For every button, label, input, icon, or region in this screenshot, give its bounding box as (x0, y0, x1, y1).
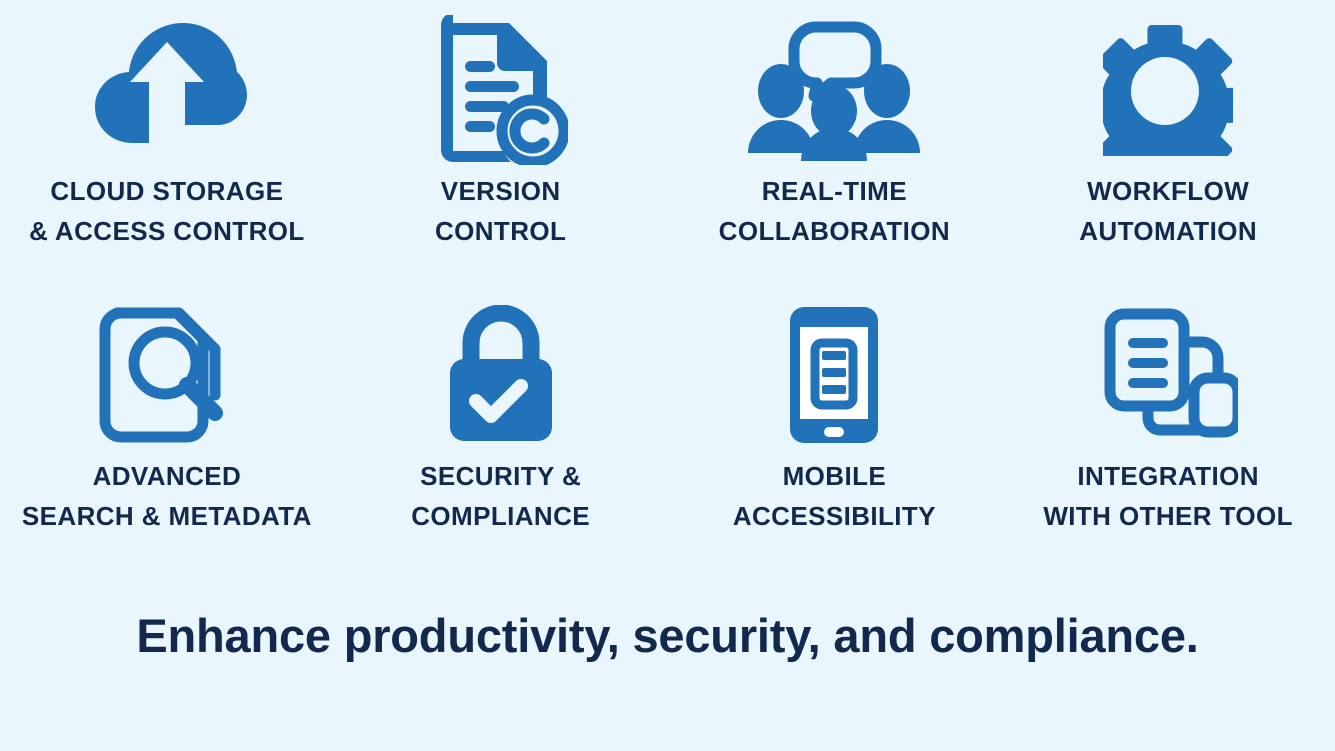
feature-item-security-compliance[interactable]: SECURITY & COMPLIANCE (334, 295, 668, 580)
lock-check-icon (446, 295, 556, 455)
feature-label: INTEGRATION WITH OTHER TOOL (1043, 457, 1293, 536)
feature-label: VERSION CONTROL (435, 172, 566, 251)
feature-grid: CLOUD STORAGE & ACCESS CONTROL VERSION C… (0, 0, 1335, 580)
people-chat-icon (748, 10, 920, 170)
mobile-phone-icon (788, 295, 880, 455)
feature-item-collaboration[interactable]: REAL-TIME COLLABORATION (668, 10, 1002, 295)
feature-label: MOBILE ACCESSIBILITY (733, 457, 936, 536)
document-integration-icon (1098, 295, 1238, 455)
feature-label: REAL-TIME COLLABORATION (719, 172, 950, 251)
cloud-upload-icon (87, 10, 247, 170)
tagline-section: Enhance productivity, security, and comp… (0, 580, 1335, 751)
feature-label: WORKFLOW AUTOMATION (1079, 172, 1257, 251)
feature-item-version-control[interactable]: VERSION CONTROL (334, 10, 668, 295)
feature-item-workflow-automation[interactable]: WORKFLOW AUTOMATION (1001, 10, 1335, 295)
gear-icon (1103, 10, 1233, 170)
features-infographic: CLOUD STORAGE & ACCESS CONTROL VERSION C… (0, 0, 1335, 751)
tagline-text: Enhance productivity, security, and comp… (136, 608, 1198, 663)
document-search-icon (97, 295, 237, 455)
document-version-icon (433, 10, 568, 170)
feature-item-integration[interactable]: INTEGRATION WITH OTHER TOOL (1001, 295, 1335, 580)
feature-item-cloud-storage[interactable]: CLOUD STORAGE & ACCESS CONTROL (0, 10, 334, 295)
feature-label: ADVANCED SEARCH & METADATA (22, 457, 312, 536)
feature-item-advanced-search[interactable]: ADVANCED SEARCH & METADATA (0, 295, 334, 580)
feature-label: CLOUD STORAGE & ACCESS CONTROL (29, 172, 305, 251)
feature-item-mobile-accessibility[interactable]: MOBILE ACCESSIBILITY (668, 295, 1002, 580)
feature-label: SECURITY & COMPLIANCE (411, 457, 590, 536)
